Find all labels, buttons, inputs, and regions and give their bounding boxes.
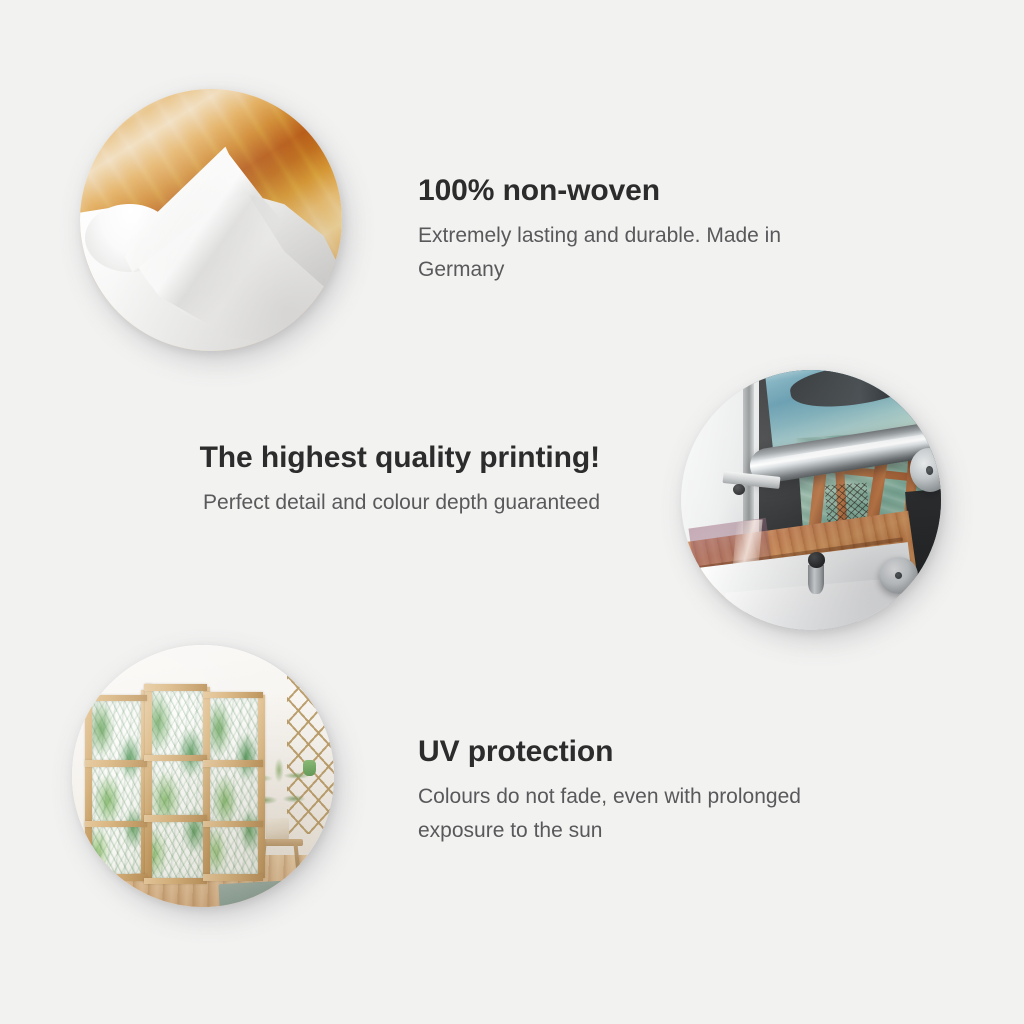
peeling-wallpaper-art [80,89,342,351]
medallion-shading [72,645,334,907]
feature-title-printing: The highest quality printing! [180,441,600,476]
feature-text-printing: The highest quality printing! Perfect de… [180,441,600,520]
room-divider-art [72,645,334,907]
infographic-stage: 100% non-woven Extremely lasting and dur… [0,0,1024,1024]
medallion-shading [80,89,342,351]
feature-description-printing: Perfect detail and colour depth guarante… [180,486,600,520]
feature-description-uv-protection: Colours do not fade, even with prolonged… [418,780,818,848]
printing-press-art [681,370,941,630]
feature-image-printing [681,370,941,630]
feature-title-non-woven: 100% non-woven [418,174,848,209]
feature-text-uv-protection: UV protection Colours do not fade, even … [418,735,818,848]
feature-image-uv-protection [72,645,334,907]
feature-title-uv-protection: UV protection [418,735,818,770]
feature-image-non-woven [80,89,342,351]
medallion-shading [681,370,941,630]
feature-description-non-woven: Extremely lasting and durable. Made in G… [418,219,848,287]
feature-text-non-woven: 100% non-woven Extremely lasting and dur… [418,174,848,287]
